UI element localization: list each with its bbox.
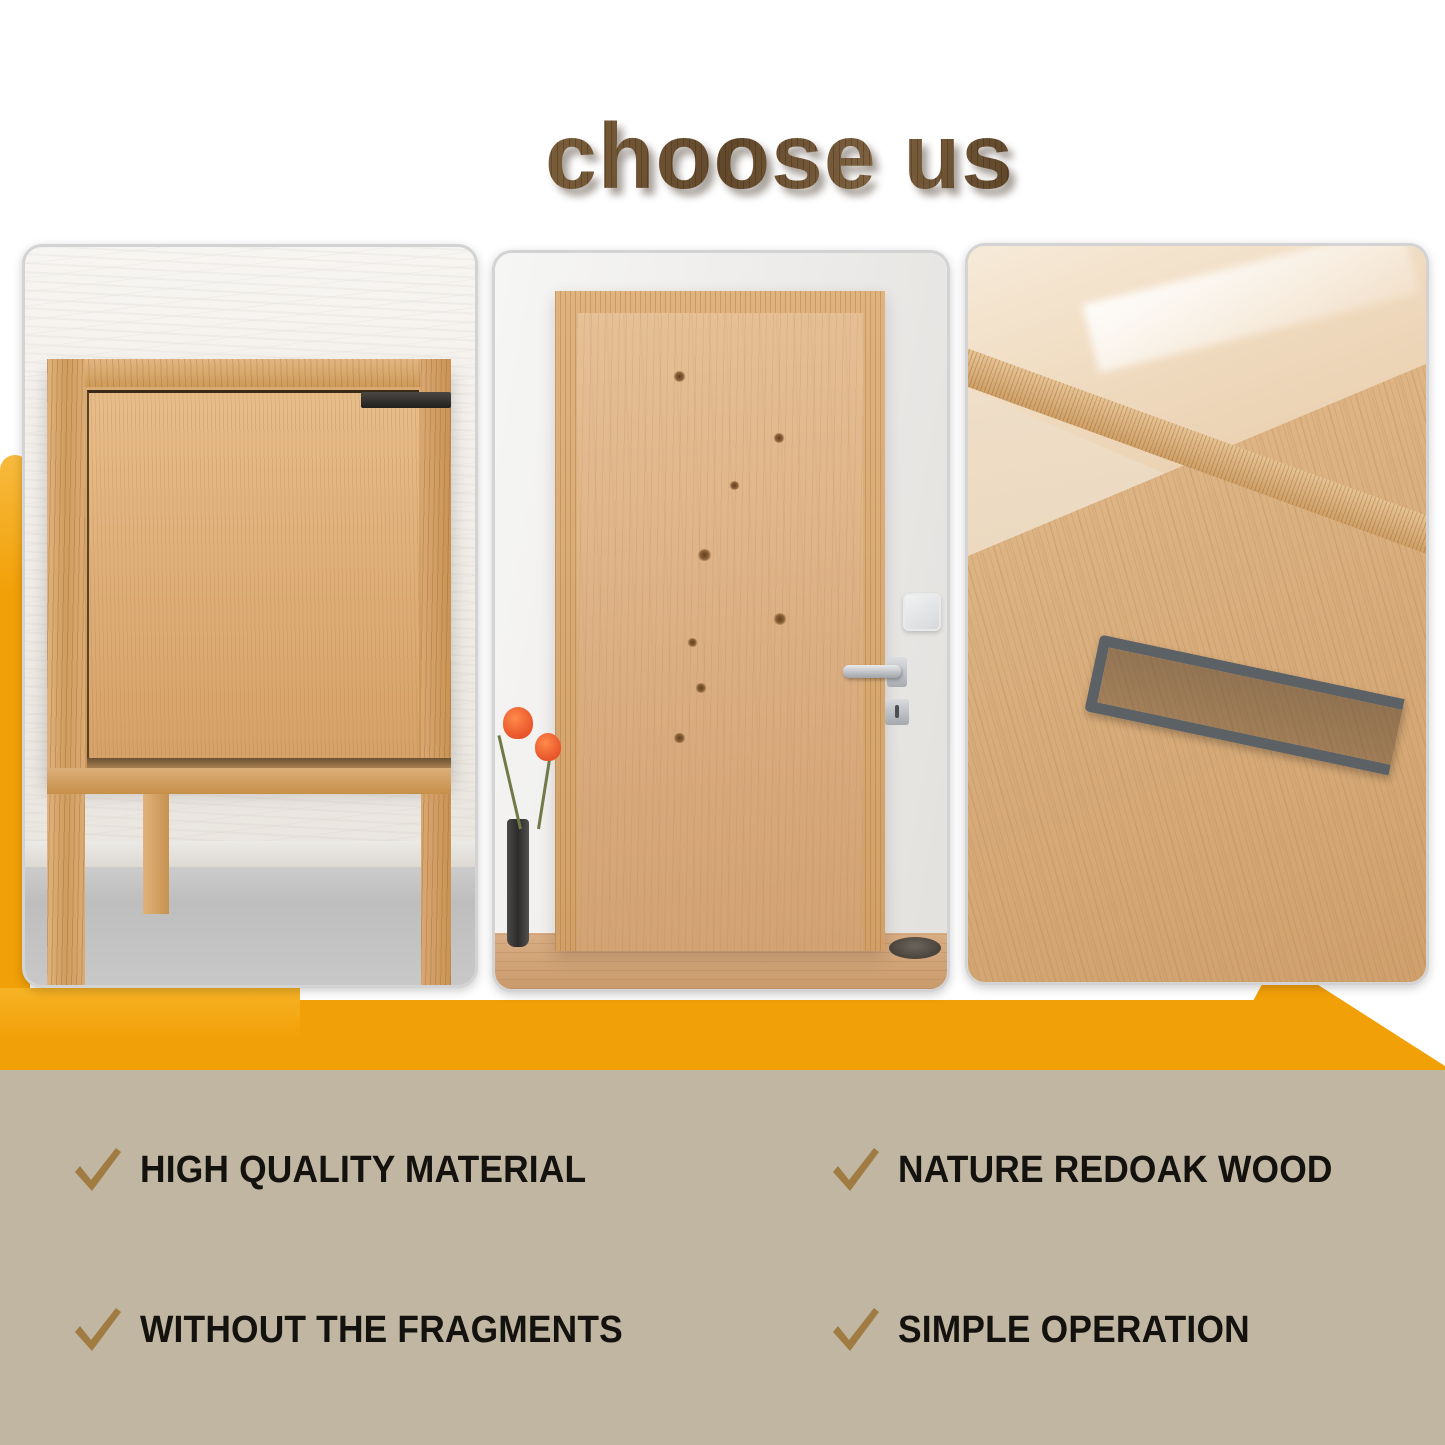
feature-label: HIGH QUALITY MATERIAL: [140, 1149, 586, 1192]
door-frame: [555, 291, 885, 951]
cabinet-top-panel: [47, 359, 451, 387]
door-keyhole: [895, 705, 899, 718]
wood-knot: [773, 433, 785, 443]
wood-log-decor: [889, 937, 941, 959]
poppy-flower: [503, 707, 533, 739]
feature-label: SIMPLE OPERATION: [898, 1309, 1250, 1352]
gallery-panel-edge-macro[interactable]: [965, 243, 1429, 985]
check-icon: [70, 1302, 126, 1358]
door-lever-handle: [843, 665, 901, 678]
headline-block: WHY choose us: [0, 28, 1445, 203]
door-leaf: [577, 313, 863, 951]
flower-vase: [507, 819, 529, 947]
feature-item-simple-operation: SIMPLE OPERATION: [828, 1302, 1276, 1358]
check-icon: [828, 1142, 884, 1198]
floor-surface: [25, 857, 475, 985]
oak-edge-macro-photo: [968, 246, 1426, 982]
wood-knot: [673, 733, 686, 743]
feature-item-nature-redoak-wood: NATURE REDOAK WOOD: [828, 1142, 1365, 1198]
feature-label: WITHOUT THE FRAGMENTS: [140, 1309, 623, 1352]
cabinet-right-post: [421, 359, 451, 988]
orange-band-left-extension: [0, 988, 300, 1072]
skirting-board: [25, 841, 475, 867]
wood-knot: [773, 613, 787, 625]
gallery-panel-door[interactable]: [492, 250, 950, 992]
cabinet-leg: [143, 794, 169, 914]
wood-knot: [695, 683, 707, 693]
feature-item-without-the-fragments: WITHOUT THE FRAGMENTS: [70, 1302, 659, 1358]
cabinet-bottom-rail: [47, 768, 451, 794]
cabinet-handle: [361, 392, 451, 408]
oak-interior-door-photo: [495, 253, 947, 989]
gallery-panel-cabinet[interactable]: [22, 244, 478, 988]
wood-knot: [673, 371, 686, 382]
feature-item-high-quality-material: HIGH QUALITY MATERIAL: [70, 1142, 620, 1198]
cabinet-shadow-gap: [87, 758, 451, 768]
check-icon: [828, 1302, 884, 1358]
light-switch: [903, 593, 941, 631]
oak-cabinet-photo: [25, 247, 475, 985]
headline-word-why: WHY: [72, 62, 428, 212]
features-section: [0, 1070, 1445, 1445]
wood-knot: [729, 481, 740, 490]
cabinet-door-panel: [87, 390, 419, 761]
infographic-canvas: WHY choose us: [0, 0, 1445, 1445]
cabinet-left-post: [47, 359, 85, 988]
wood-knot: [687, 638, 698, 647]
poppy-flower: [535, 733, 561, 761]
feature-label: NATURE REDOAK WOOD: [898, 1149, 1333, 1192]
check-icon: [70, 1142, 126, 1198]
wood-knot: [697, 549, 712, 561]
headline-word-choose-us: choose us: [545, 110, 1014, 203]
